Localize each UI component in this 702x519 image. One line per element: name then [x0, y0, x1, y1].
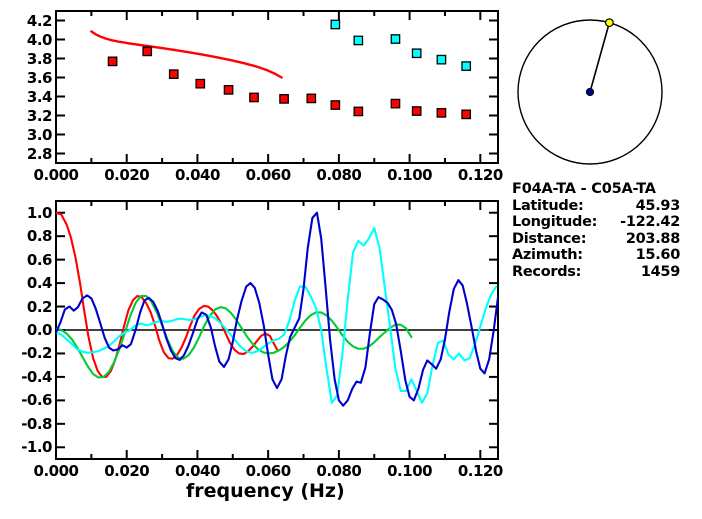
paired-station-dot [606, 19, 614, 27]
x-tick-label: 0.080 [316, 462, 361, 480]
station-pair-metrics: Latitude:45.93Longitude:-122.42Distance:… [512, 198, 702, 281]
y-tick-label: 0.8 [27, 227, 52, 245]
info-value: 1459 [600, 264, 680, 281]
info-row: Distance:203.88 [512, 231, 702, 248]
info-label: Distance: [512, 231, 600, 248]
y-tick-label: 3.4 [27, 88, 52, 106]
x-tick-label: 0.120 [458, 166, 503, 184]
reference-station-dot [586, 88, 593, 95]
y-tick-label: 0.0 [27, 321, 52, 339]
info-value: -122.42 [600, 214, 680, 231]
x-tick-label: 0.100 [387, 166, 432, 184]
seismic-dispersion-figure: 2.83.03.23.43.63.84.04.2 0.0000.0200.040… [0, 0, 702, 519]
y-tick-label: -0.6 [21, 391, 52, 409]
y-tick-label: 1.0 [27, 204, 52, 222]
y-tick-label: 3.0 [27, 126, 52, 144]
info-label: Latitude: [512, 198, 600, 215]
info-label: Records: [512, 264, 600, 281]
info-row: Azimuth:15.60 [512, 247, 702, 264]
info-value: 203.88 [600, 231, 680, 248]
x-tick-label: 0.040 [175, 462, 220, 480]
y-tick-label: 4.2 [27, 12, 52, 30]
y-tick-label: 3.2 [27, 107, 52, 125]
y-tick-label: -0.8 [21, 415, 52, 433]
y-tick-label: 2.8 [27, 145, 52, 163]
cross-correlation-plot-panel: -1.0-0.8-0.6-0.4-0.20.00.20.40.60.81.0 0… [0, 195, 510, 519]
info-row: Latitude:45.93 [512, 198, 702, 215]
station-pair-info: F04A-TA - C05A-TA Latitude:45.93Longitud… [512, 181, 702, 281]
y-tick-label: 4.0 [27, 31, 52, 49]
x-tick-label: 0.060 [246, 166, 291, 184]
x-axis-title: frequency (Hz) [186, 480, 345, 502]
x-tick-label: 0.060 [246, 462, 291, 480]
x-tick-label: 0.000 [34, 462, 79, 480]
y-tick-label: 0.2 [27, 298, 52, 316]
info-row: Records:1459 [512, 264, 702, 281]
y-tick-label: -0.2 [21, 344, 52, 362]
info-row: Longitude:-122.42 [512, 214, 702, 231]
x-tick-label: 0.000 [34, 166, 79, 184]
dispersion-plot-panel: 2.83.03.23.43.63.84.04.2 0.0000.0200.040… [0, 0, 510, 195]
info-value: 45.93 [600, 198, 680, 215]
info-value: 15.60 [600, 247, 680, 264]
x-tick-label: 0.020 [104, 166, 149, 184]
x-tick-label: 0.080 [316, 166, 361, 184]
y-tick-label: 3.6 [27, 69, 52, 87]
y-tick-label: -1.0 [21, 438, 52, 456]
x-tick-label: 0.120 [458, 462, 503, 480]
y-tick-label: -0.4 [21, 368, 52, 386]
info-label: Longitude: [512, 214, 600, 231]
x-tick-label: 0.100 [387, 462, 432, 480]
y-tick-label: 0.4 [27, 274, 52, 292]
x-tick-label: 0.020 [104, 462, 149, 480]
x-tick-label: 0.040 [175, 166, 220, 184]
azimuth-diagram [505, 0, 702, 180]
y-tick-label: 0.6 [27, 251, 52, 269]
info-label: Azimuth: [512, 247, 600, 264]
y-tick-label: 3.8 [27, 50, 52, 68]
station-pair-title: F04A-TA - C05A-TA [512, 181, 702, 198]
